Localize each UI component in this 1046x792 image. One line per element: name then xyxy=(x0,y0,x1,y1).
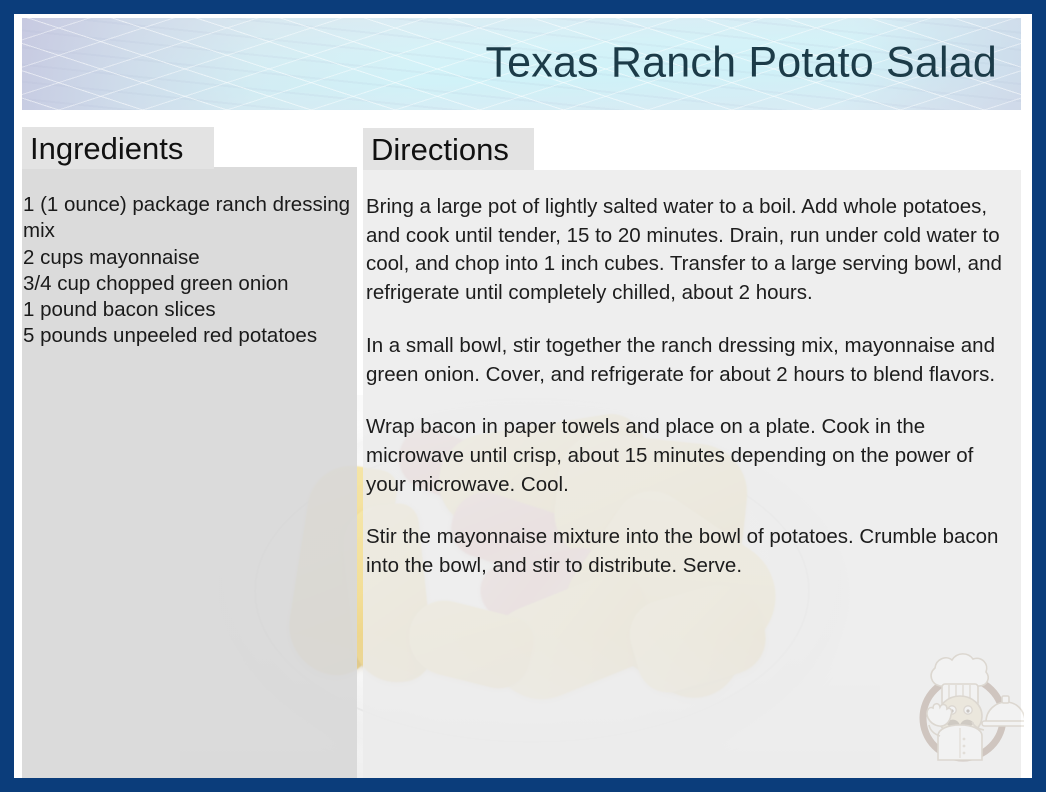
frame-border-right xyxy=(1032,0,1046,792)
directions-text: Bring a large pot of lightly salted wate… xyxy=(366,193,1022,581)
ingredient-item: 5 pounds unpeeled red potatoes xyxy=(22,323,352,349)
recipe-card-slide: Texas Ranch Potato Salad Ingredients Dir… xyxy=(0,0,1046,792)
frame-border-bottom xyxy=(0,778,1046,792)
frame-border-left xyxy=(0,0,14,792)
ingredient-item: 3/4 cup chopped green onion xyxy=(22,271,352,297)
ingredient-item: 1 pound bacon slices xyxy=(22,297,352,323)
directions-heading-label: Directions xyxy=(371,134,509,165)
direction-paragraph: In a small bowl, stir together the ranch… xyxy=(366,332,1018,389)
direction-paragraph: Bring a large pot of lightly salted wate… xyxy=(366,193,1018,308)
direction-paragraph: Wrap bacon in paper towels and place on … xyxy=(366,413,1018,499)
directions-heading-tab: Directions xyxy=(363,128,534,170)
header-banner: Texas Ranch Potato Salad xyxy=(22,18,1021,110)
ingredients-heading-tab: Ingredients xyxy=(22,127,214,169)
ingredient-item: 2 cups mayonnaise xyxy=(22,245,352,271)
frame-border-top xyxy=(0,0,1046,14)
page-title: Texas Ranch Potato Salad xyxy=(485,41,997,86)
ingredients-list: 1 (1 ounce) package ranch dressing mix 2… xyxy=(22,192,352,350)
direction-paragraph: Stir the mayonnaise mixture into the bow… xyxy=(366,523,1018,580)
ingredient-item: 1 (1 ounce) package ranch dressing mix xyxy=(22,192,352,245)
ingredients-heading-label: Ingredients xyxy=(30,133,183,164)
